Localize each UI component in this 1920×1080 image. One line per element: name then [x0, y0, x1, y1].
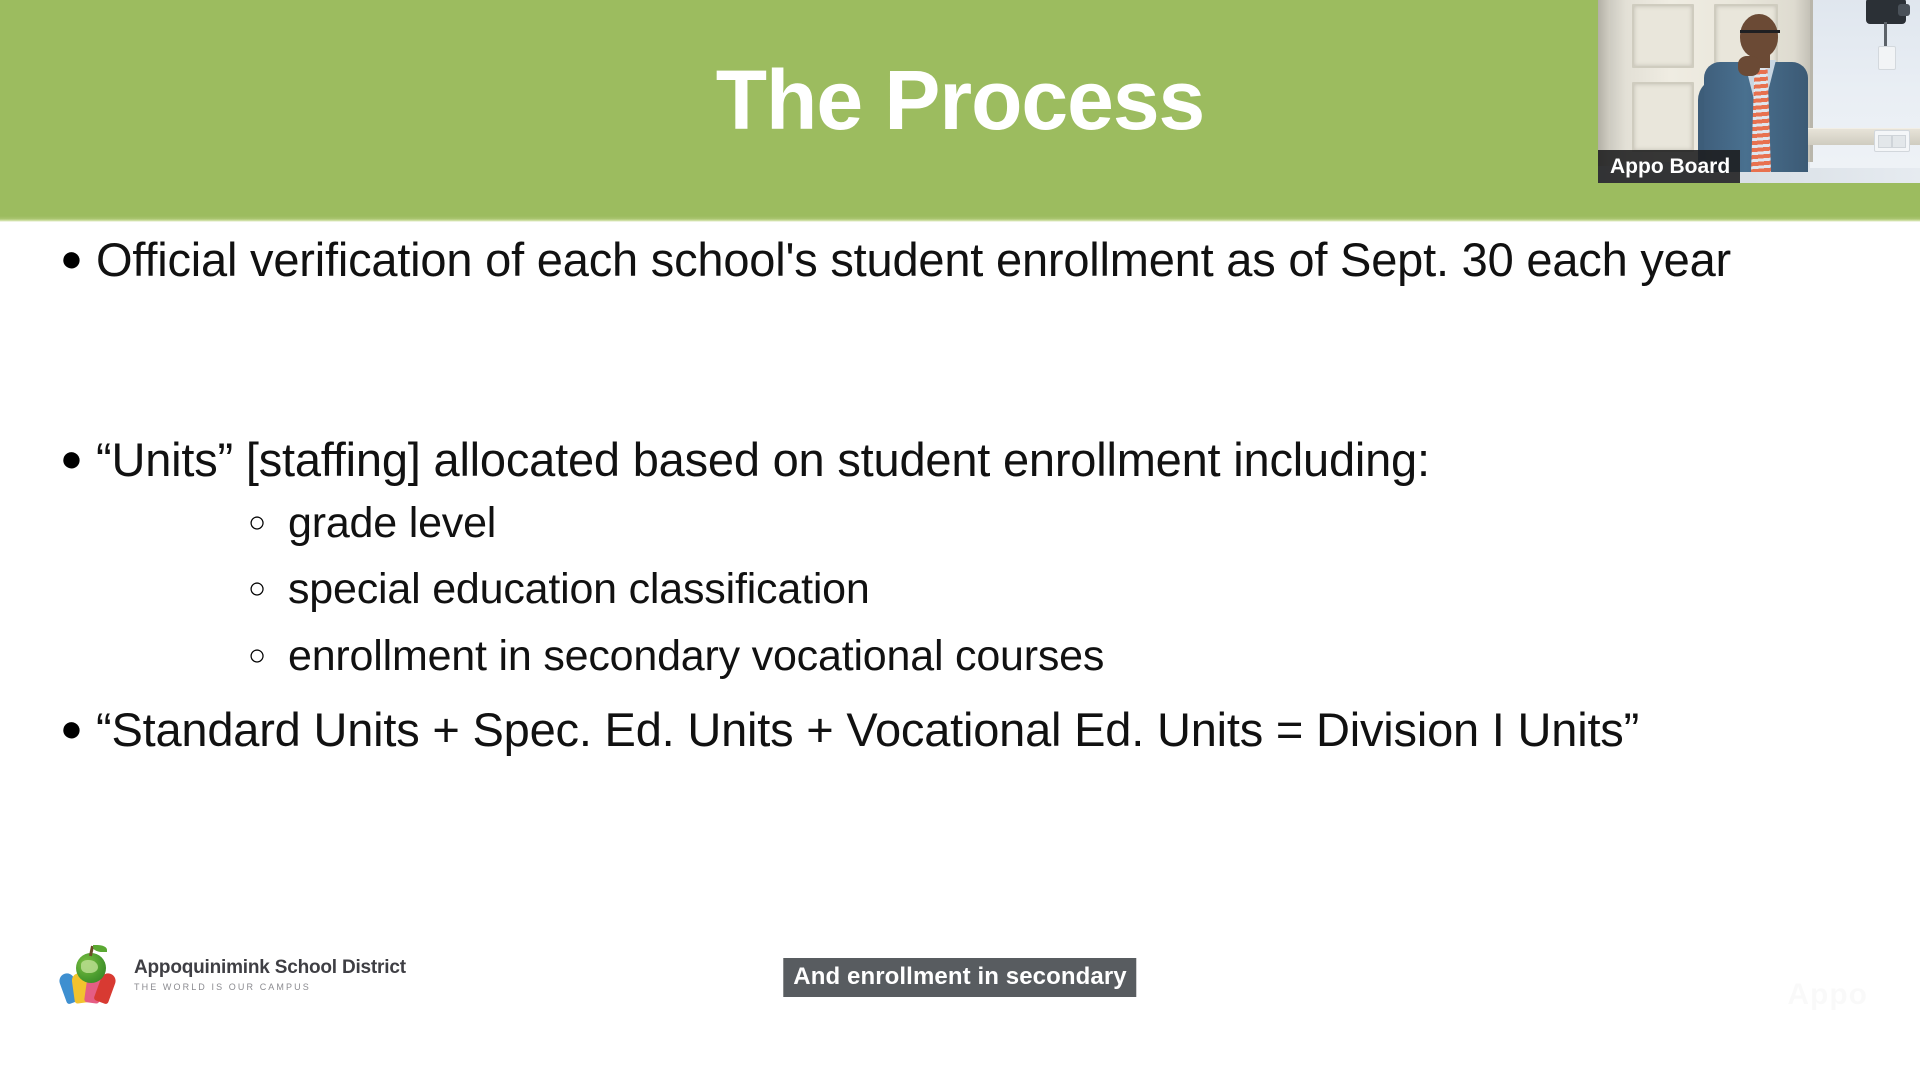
bullet-marker-icon: ● [48, 427, 96, 491]
video-wall-plate [1874, 130, 1910, 152]
bullet-item: ● “Units” [staffing] allocated based on … [48, 427, 1898, 493]
speaker-video-overlay[interactable]: Appo Board [1598, 0, 1920, 183]
faint-watermark: Appo [1787, 978, 1868, 1012]
speaker-glasses [1740, 30, 1780, 40]
bullet-text: Official verification of each school's s… [96, 227, 1731, 293]
bullet-marker-icon: ● [48, 697, 96, 761]
live-caption-text: And enrollment in secondary [783, 958, 1136, 997]
sub-bullet-item: ○ enrollment in secondary vocational cou… [248, 627, 1104, 685]
bullet-item: ● Official verification of each school's… [48, 227, 1898, 293]
sub-bullet-marker-icon: ○ [248, 627, 288, 685]
logo-apple-leaf [93, 945, 107, 952]
sub-bullet-text: special education classification [288, 560, 870, 618]
video-wall-camera [1866, 0, 1906, 24]
district-tagline: THE WORLD IS OUR CAMPUS [134, 983, 406, 993]
video-wall-outlet [1878, 46, 1896, 70]
video-door-panel [1632, 4, 1694, 68]
video-camera-cord [1884, 22, 1887, 48]
bullet-text: “Standard Units + Spec. Ed. Units + Voca… [96, 697, 1639, 763]
speaker-hand-with-microphone [1738, 56, 1760, 76]
sub-bullet-text: enrollment in secondary vocational cours… [288, 627, 1104, 685]
sub-bullet-text: grade level [288, 494, 496, 552]
logo-globe-apple [76, 953, 106, 983]
district-name: Appoquinimink School District [134, 958, 406, 979]
bullet-marker-icon: ● [48, 227, 96, 291]
video-participant-name-label: Appo Board [1598, 150, 1740, 183]
video-door-panel [1632, 82, 1694, 152]
district-logo: Appoquinimink School District THE WORLD … [60, 945, 406, 1005]
presentation-slide: The Process Appo Board ● Official verifi… [0, 0, 1920, 1080]
sub-bullet-marker-icon: ○ [248, 560, 288, 618]
apple-globe-hands-icon [60, 945, 120, 1005]
bullet-item: ● “Standard Units + Spec. Ed. Units + Vo… [48, 697, 1898, 763]
bullet-text: “Units” [staffing] allocated based on st… [96, 427, 1430, 493]
sub-bullet-item: ○ special education classification [248, 560, 870, 618]
sub-bullet-item: ○ grade level [248, 494, 496, 552]
sub-bullet-marker-icon: ○ [248, 494, 288, 552]
